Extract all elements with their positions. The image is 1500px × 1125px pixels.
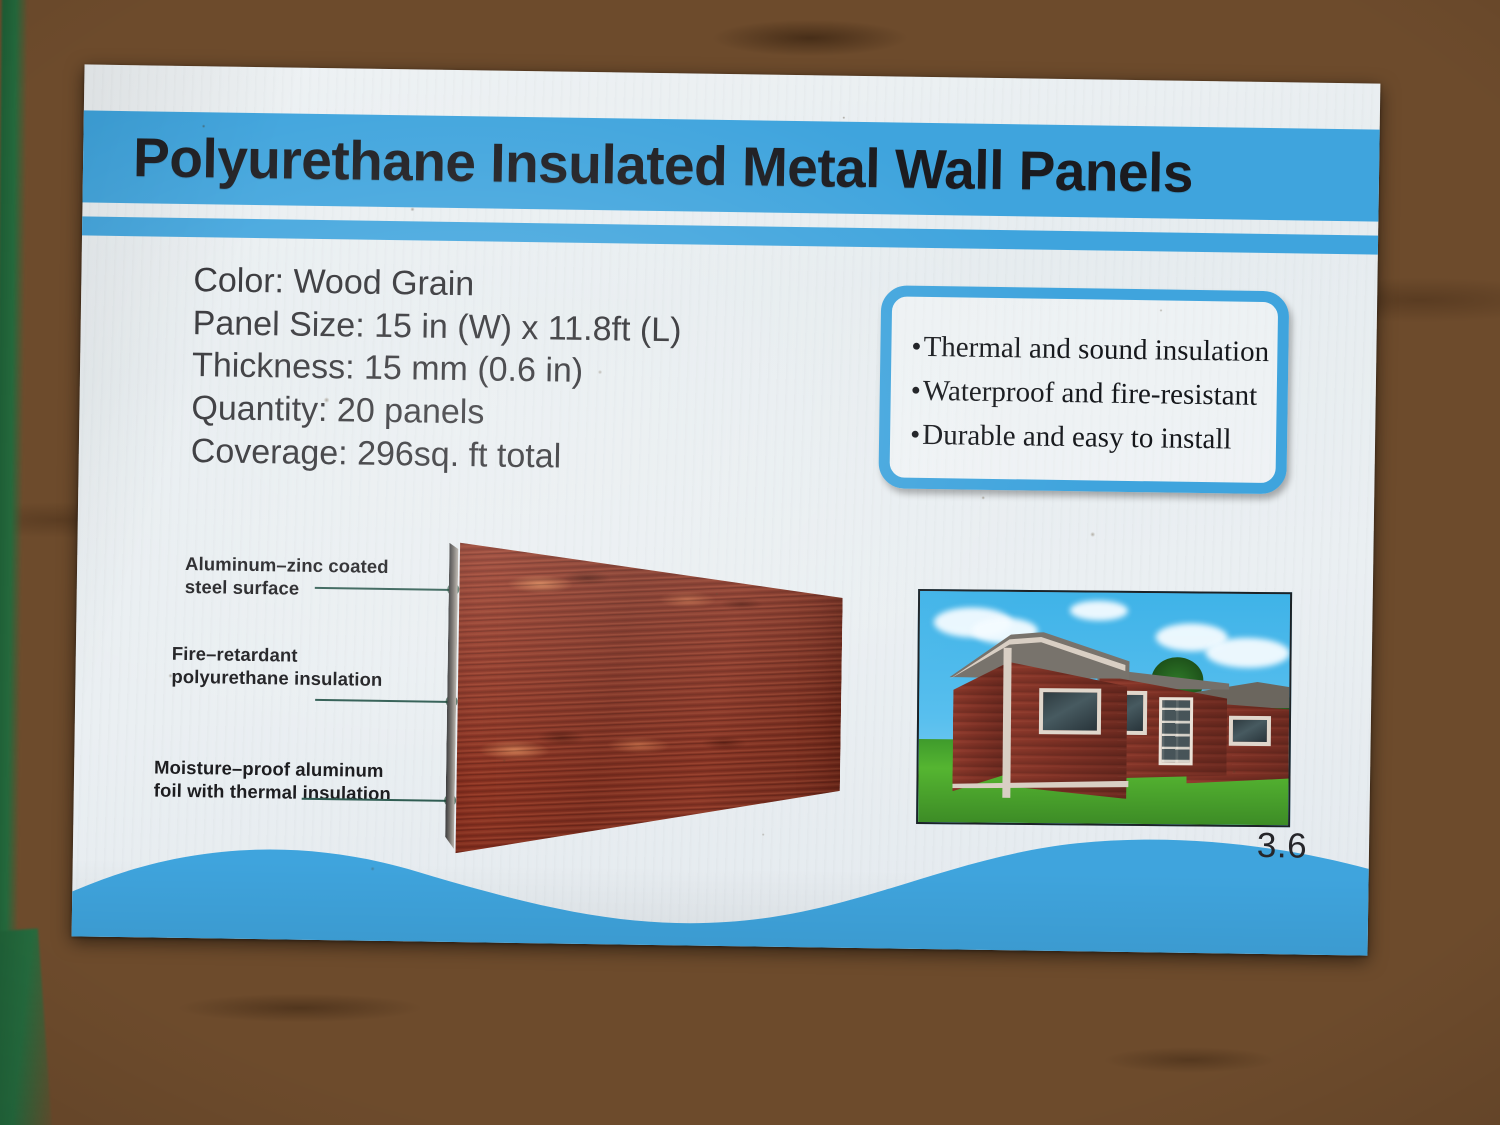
callout-aluminum-zinc: Aluminum–zinc coated steel surface [185, 553, 389, 601]
photo-corner-trim [1002, 648, 1011, 798]
screenshot-root: Polyurethane Insulated Metal Wall Panels… [0, 0, 1500, 1125]
bullet-icon: • [910, 419, 921, 451]
feature-item-durable: •Durable and easy to install [910, 413, 1267, 462]
callout-line-1: Aluminum–zinc coated [185, 553, 389, 579]
page-title: Polyurethane Insulated Metal Wall Panels [133, 125, 1194, 205]
header-band: Polyurethane Insulated Metal Wall Panels [72, 110, 1380, 222]
callout-line-1: Moisture–proof aluminum [154, 757, 391, 783]
header-accent-bar [72, 216, 1380, 255]
photo-french-door [1159, 697, 1194, 765]
wave-footer [72, 808, 1380, 955]
feature-label: Durable and easy to install [922, 419, 1232, 456]
callout-fire-retardant: Fire–retardant polyurethane insulation [171, 643, 383, 691]
product-spec-poster: Polyurethane Insulated Metal Wall Panels… [72, 64, 1381, 955]
features-box: •Thermal and sound insulation •Waterproo… [878, 285, 1289, 494]
callout-line-2: foil with thermal insulation [154, 779, 391, 805]
feature-item-thermal: •Thermal and sound insulation [911, 325, 1268, 374]
callout-line-1: Fire–retardant [172, 643, 383, 669]
callout-line-2: polyurethane insulation [171, 665, 382, 691]
specification-list: Color: Wood Grain Panel Size: 15 in (W) … [190, 259, 793, 481]
bullet-icon: • [911, 331, 922, 363]
photo-window-right [1229, 716, 1271, 746]
wave-shape [72, 823, 1380, 955]
bullet-icon: • [911, 375, 922, 407]
feature-item-waterproof: •Waterproof and fire-resistant [910, 369, 1267, 418]
photo-cloud [1205, 638, 1289, 669]
leader-line-2 [315, 699, 453, 703]
feature-label: Waterproof and fire-resistant [923, 375, 1258, 412]
page-number: 3.6 [1257, 826, 1308, 867]
photo-window-main [1039, 688, 1101, 735]
photo-cloud [1070, 600, 1128, 621]
feature-label: Thermal and sound insulation [923, 331, 1269, 368]
house-photo [916, 589, 1292, 827]
spec-coverage: Coverage: 296sq. ft total [190, 430, 791, 482]
